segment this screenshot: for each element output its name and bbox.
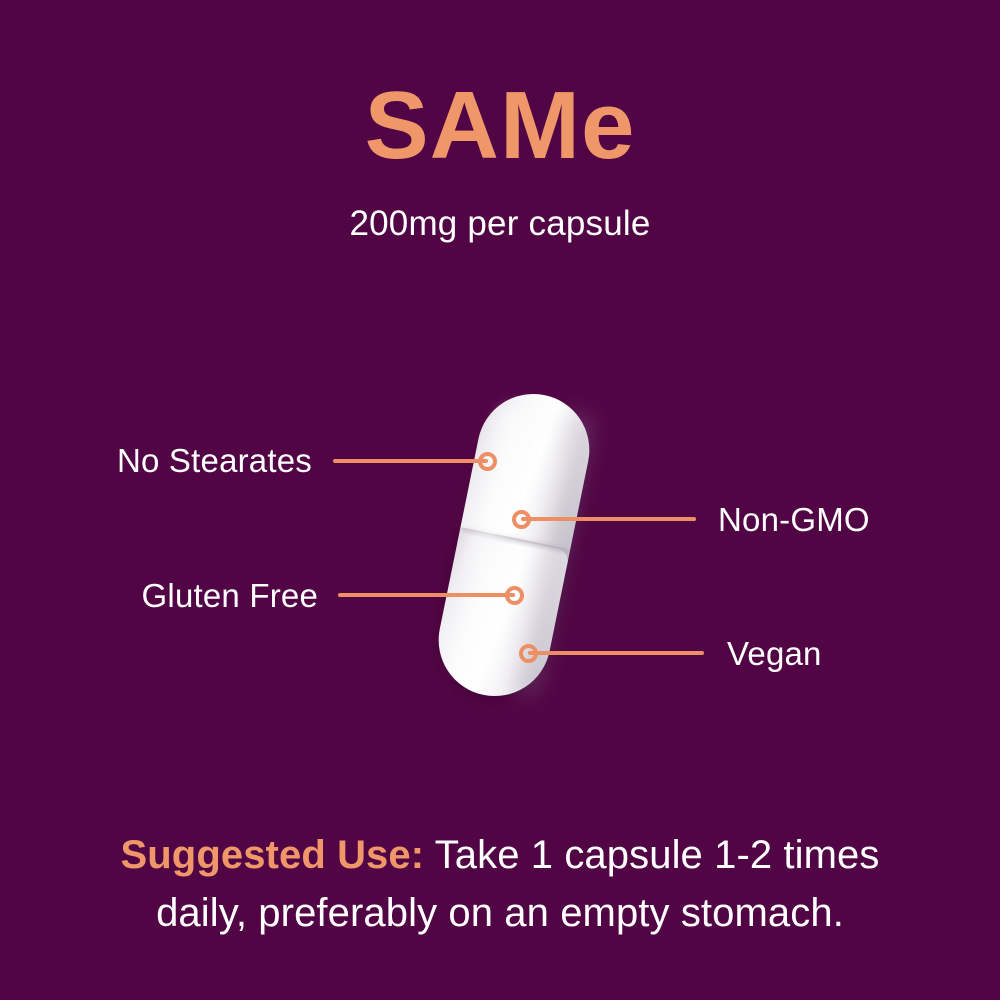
leader-dot-gluten-free: [505, 586, 524, 605]
page-subtitle: 200mg per capsule: [0, 203, 1000, 245]
suggested-use-block: Suggested Use: Take 1 capsule 1-2 times …: [0, 826, 1000, 942]
callout-label-non-gmo: Non-GMO: [718, 503, 870, 536]
leader-dot-no-stearates: [478, 452, 497, 471]
leader-line-gluten-free: [338, 593, 515, 597]
suggested-use-label: Suggested Use:: [120, 833, 424, 877]
callout-label-gluten-free: Gluten Free: [0, 579, 318, 612]
leader-line-non-gmo: [521, 517, 696, 521]
callout-label-no-stearates: No Stearates: [0, 444, 312, 477]
leader-line-vegan: [528, 651, 704, 655]
callout-label-vegan: Vegan: [727, 637, 822, 670]
page-title: SAMe: [0, 78, 1000, 174]
capsule-image: [403, 380, 623, 710]
leader-line-no-stearates: [333, 459, 488, 463]
infographic-canvas: SAMe 200mg per capsule No Stearates Non-…: [0, 0, 1000, 1000]
